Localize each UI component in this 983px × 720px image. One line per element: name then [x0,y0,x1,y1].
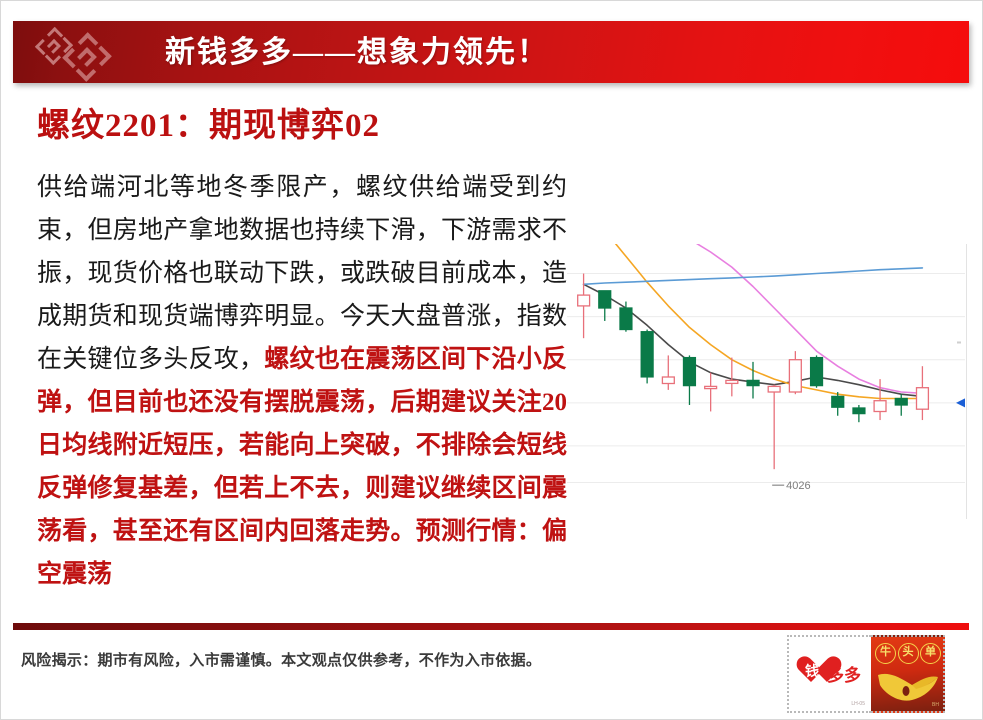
chart-canvas: 4026 [567,244,967,519]
diamond-knot-logo [31,23,151,81]
body-text-black: 供给端河北等地冬季限产，螺纹供给端受到约束，但房地产拿地数据也持续下滑，下游需求… [37,174,567,373]
banner-title: 新钱多多——想象力领先！ [165,29,549,77]
slide-page: 新钱多多——想象力领先！ 螺纹2201：期现博弈02 供给端河北等地冬季限产，螺… [0,0,983,720]
page-title: 螺纹2201：期现博弈02 [37,98,380,146]
body-text-red: 螺纹也在震荡区间下沿小反弹，但目前也还没有摆脱震荡，后期建议关注20日均线附近短… [37,346,567,588]
niutoudan-circles: 牛 头 单 [875,643,941,664]
risk-disclaimer: 风险揭示：期市有风险，入市需谨慎。本文观点仅供参考，不作为入市依据。 [21,649,541,670]
heart-char-label: 钱 [797,661,827,681]
svg-text:4026: 4026 [786,480,810,492]
qianduoduo-word: 多多 [827,661,861,686]
footer-divider [13,623,969,630]
chart-price-marker [956,341,965,407]
bull-head-icon [876,665,940,707]
qianduoduo-stamp: 钱 多多 LH-05 [787,635,871,713]
body-paragraph: 供给端河北等地冬季限产，螺纹供给端受到约束，但房地产拿地数据也持续下滑，下游需求… [37,166,567,596]
chart-gridlines [567,274,965,483]
footer-stamps: 钱 多多 LH-05 牛 头 单 BH [787,635,945,713]
chart-right-axis [966,244,967,519]
chart-candles [578,274,929,470]
ntd-circle-3: 单 [920,643,941,664]
ntd-circle-2: 头 [898,643,919,664]
ntd-circle-1: 牛 [875,643,896,664]
header-banner: 新钱多多——想象力领先！ [13,21,969,83]
chart-annotation: 4026 [772,480,810,492]
stamp-left-code: LH-05 [851,701,865,707]
niutoudan-stamp: 牛 头 单 BH [871,635,945,713]
candlestick-chart: 4026 [567,244,967,519]
stamp-right-code: BH [932,702,939,708]
